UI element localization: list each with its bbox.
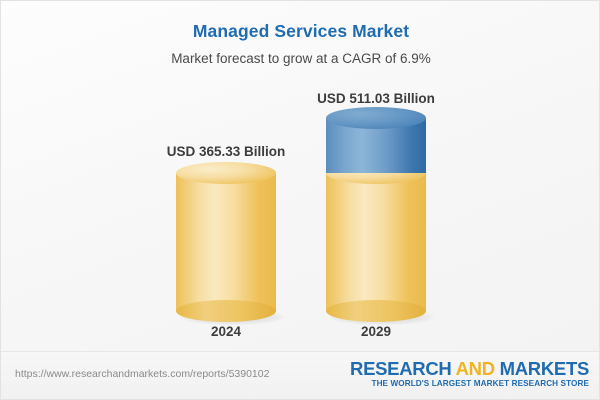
logo-tagline: THE WORLD'S LARGEST MARKET RESEARCH STOR… xyxy=(350,379,589,388)
cylinder-2024[interactable] xyxy=(176,173,276,311)
plot-area: USD 365.33 Billion 2024 USD 511.03 Billi… xyxy=(1,1,600,353)
logo-word-research: RESEARCH xyxy=(350,358,456,379)
logo-word-and: AND xyxy=(456,358,500,379)
footer: https://www.researchandmarkets.com/repor… xyxy=(1,351,600,399)
segment-body xyxy=(176,173,276,311)
chart-card: Managed Services Market Market forecast … xyxy=(0,0,600,400)
cylinder-bottom-cap xyxy=(176,300,276,322)
category-label-2029: 2029 xyxy=(361,324,391,339)
report-url[interactable]: https://www.researchandmarkets.com/repor… xyxy=(15,368,269,380)
bar-segment-growth-2029[interactable] xyxy=(326,118,426,173)
logo-word-markets: MARKETS xyxy=(500,358,589,379)
category-label-2024: 2024 xyxy=(211,324,241,339)
segment-body xyxy=(326,173,426,311)
bar-segment-base-2029[interactable] xyxy=(326,173,426,311)
brand-logo[interactable]: RESEARCH AND MARKETS THE WORLD'S LARGEST… xyxy=(350,359,589,388)
cylinder-bottom-cap xyxy=(326,300,426,322)
value-label-2029: USD 511.03 Billion xyxy=(317,91,435,106)
cylinder-2029[interactable] xyxy=(326,118,426,311)
bar-segment-base-2024[interactable] xyxy=(176,173,276,311)
cylinder-top-cap xyxy=(326,107,426,129)
cylinder-top-cap xyxy=(176,162,276,184)
logo-wordmark: RESEARCH AND MARKETS xyxy=(350,359,589,378)
value-label-2024: USD 365.33 Billion xyxy=(167,144,286,159)
